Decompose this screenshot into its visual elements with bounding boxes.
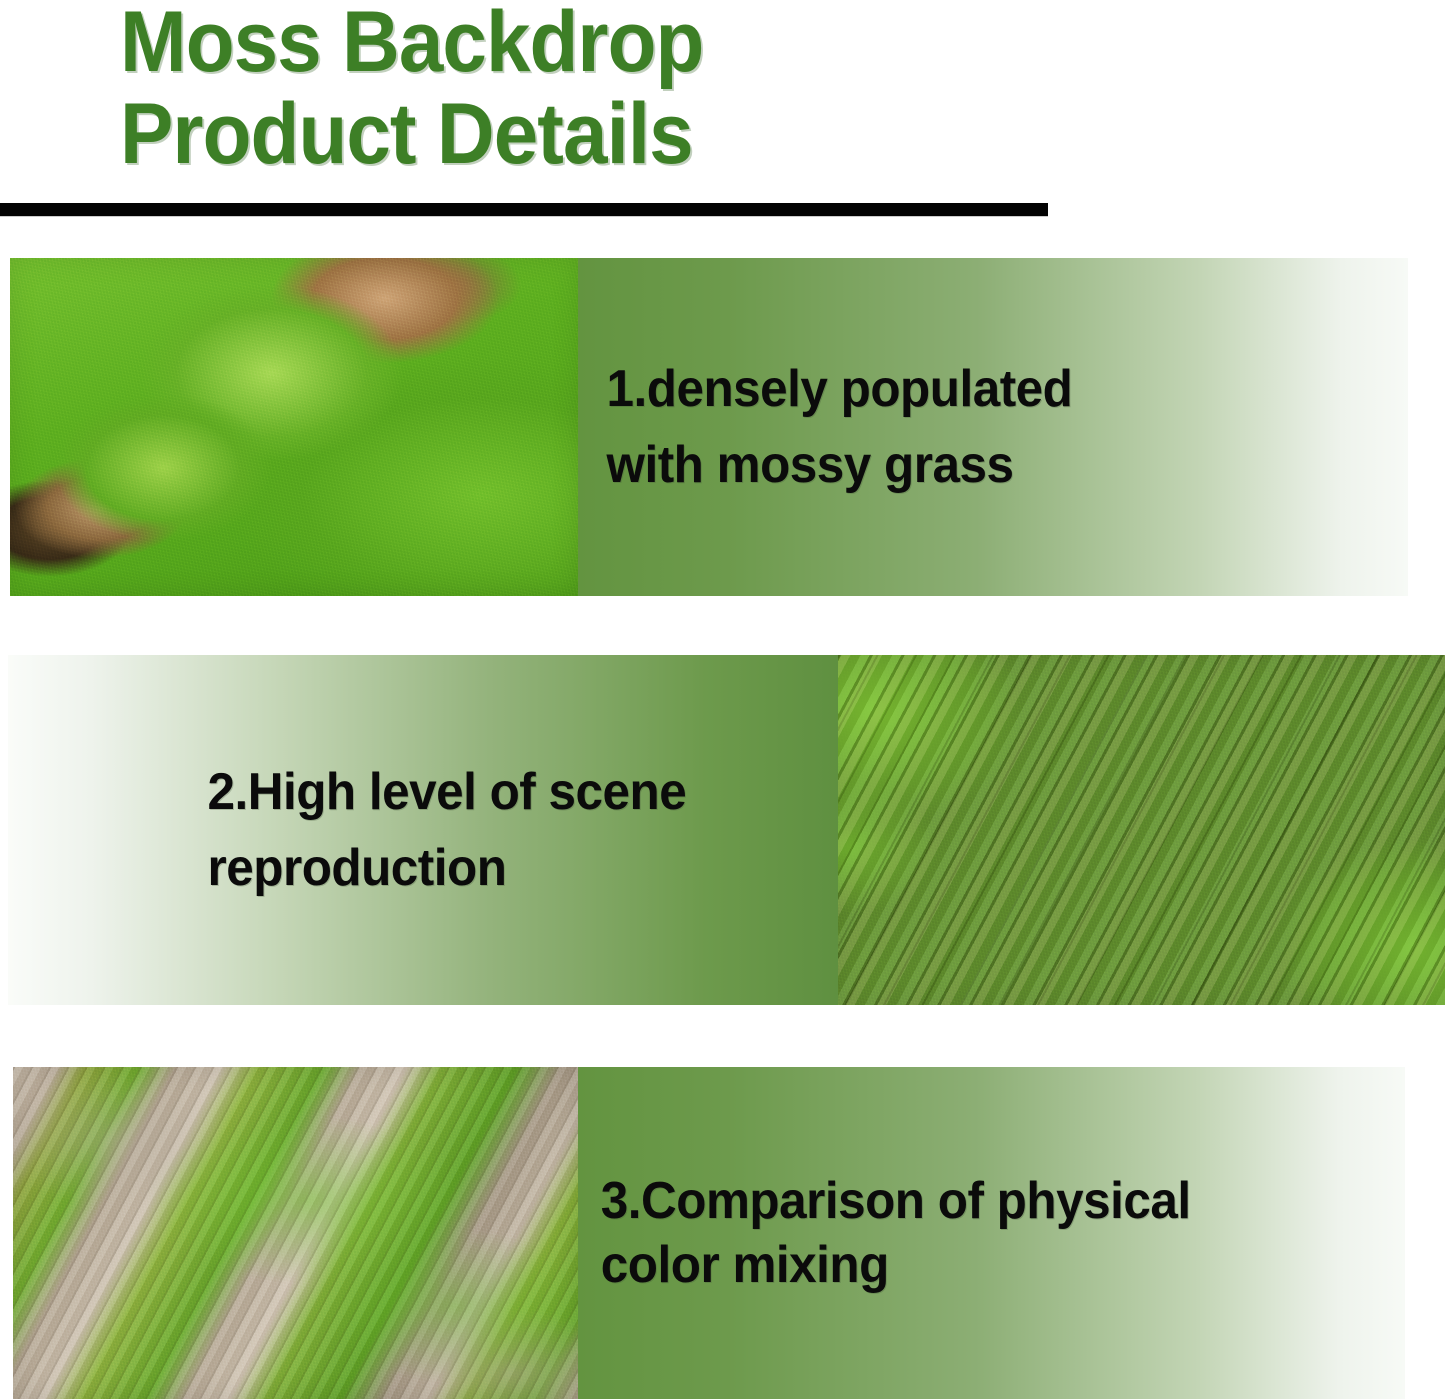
feature-row-3: 3.Comparison of physical color mixing (13, 1067, 1405, 1399)
feature-3-photo (13, 1067, 578, 1399)
feature-row-1: 1.densely populated with mossy grass (10, 258, 1408, 596)
feature-1-caption-line-1: 1.densely populated (607, 351, 1073, 427)
photo-vignette (13, 1067, 578, 1399)
feature-1-caption: 1.densely populated with mossy grass (578, 351, 1072, 503)
feature-1-photo (10, 258, 578, 596)
photo-texture-overlay (13, 1067, 578, 1399)
feature-3-caption-line-2: color mixing (601, 1233, 1191, 1297)
feature-2-caption-line-2: reproduction (208, 830, 687, 906)
feature-2-caption-line-1: 2.High level of scene (208, 754, 687, 830)
feature-3-text-panel: 3.Comparison of physical color mixing (578, 1067, 1405, 1399)
photo-texture-overlay (838, 655, 1445, 1005)
feature-2-text-panel: 2.High level of scene reproduction (8, 655, 838, 1005)
feature-row-2: 2.High level of scene reproduction (8, 655, 1445, 1005)
feature-2-photo (838, 655, 1445, 1005)
photo-vignette (838, 655, 1445, 1005)
photo-vignette (10, 258, 578, 596)
product-detail-infographic: Moss Backdrop Product Details 1.densely … (0, 0, 1445, 1399)
title-underline-bar (0, 203, 1048, 216)
feature-3-caption-line-1: 3.Comparison of physical (601, 1169, 1191, 1233)
page-title-line-2: Product Details (120, 88, 1004, 180)
header: Moss Backdrop Product Details (0, 0, 1445, 216)
feature-2-caption: 2.High level of scene reproduction (8, 754, 686, 906)
page-title-line-1: Moss Backdrop (120, 0, 1004, 88)
feature-1-caption-line-2: with mossy grass (607, 427, 1073, 503)
feature-3-caption: 3.Comparison of physical color mixing (578, 1169, 1191, 1297)
page-title: Moss Backdrop Product Details (120, 0, 1070, 180)
photo-texture-overlay (10, 258, 578, 596)
feature-1-text-panel: 1.densely populated with mossy grass (578, 258, 1408, 596)
